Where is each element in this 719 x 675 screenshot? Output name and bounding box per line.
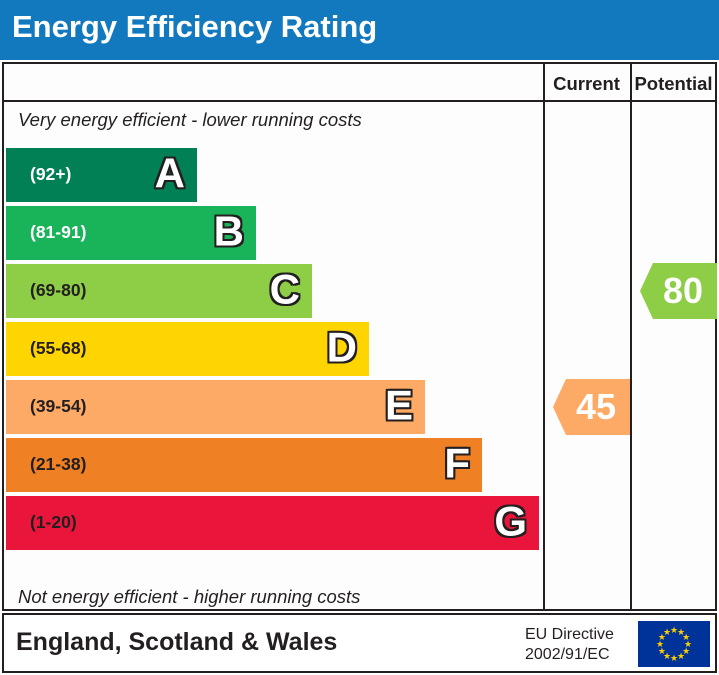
band-range-label: (55-68) [30,338,86,359]
rating-potential-arrow: 80 [640,263,717,319]
band-list: (92+)A(81-91)B(69-80)C(55-68)D(39-54)E(2… [4,64,543,609]
directive-line-1: EU Directive [525,625,629,645]
band-f: (21-38)F [6,438,482,492]
band-g: (1-20)G [6,496,539,550]
column-header-potential: Potential [630,73,717,95]
band-b: (81-91)B [6,206,256,260]
band-letter-label: C [270,268,300,310]
band-letter-label: F [444,442,470,484]
band-letter-label: G [494,500,527,542]
eu-star-icon: ★ [670,654,678,662]
title-bar: Energy Efficiency Rating [0,0,719,60]
band-c: (69-80)C [6,264,312,318]
band-range-label: (92+) [30,164,71,185]
footer-directive: EU Directive 2002/91/EC [525,625,629,665]
directive-line-2: 2002/91/EC [525,645,629,665]
rating-current-value: 45 [576,389,630,425]
footer-bar: England, Scotland & Wales EU Directive 2… [2,613,717,673]
eu-star-icon: ★ [677,652,685,660]
band-range-label: (69-80) [30,280,86,301]
band-a: (92+)A [6,148,197,202]
band-letter-label: E [385,384,413,426]
rating-current-arrow: 45 [553,379,630,435]
band-range-label: (39-54) [30,396,86,417]
column-divider-current [543,64,545,609]
eu-star-icon: ★ [663,628,671,636]
band-d: (55-68)D [6,322,369,376]
band-range-label: (1-20) [30,512,77,533]
rating-potential-value: 80 [663,273,717,309]
column-header-current: Current [543,73,630,95]
band-letter-label: B [214,210,244,252]
band-e: (39-54)E [6,380,425,434]
band-letter-label: A [155,152,185,194]
column-divider-potential [630,64,632,609]
energy-efficiency-rating-chart: Energy Efficiency Rating Current Potenti… [0,0,719,675]
band-letter-label: D [327,326,357,368]
page-title: Energy Efficiency Rating [12,9,377,45]
band-range-label: (81-91) [30,222,86,243]
rating-grid: Current Potential Very energy efficient … [2,62,717,611]
eu-flag-icon: ★★★★★★★★★★★★ [638,621,710,667]
band-range-label: (21-38) [30,454,86,475]
footer-region-label: England, Scotland & Wales [16,628,337,657]
